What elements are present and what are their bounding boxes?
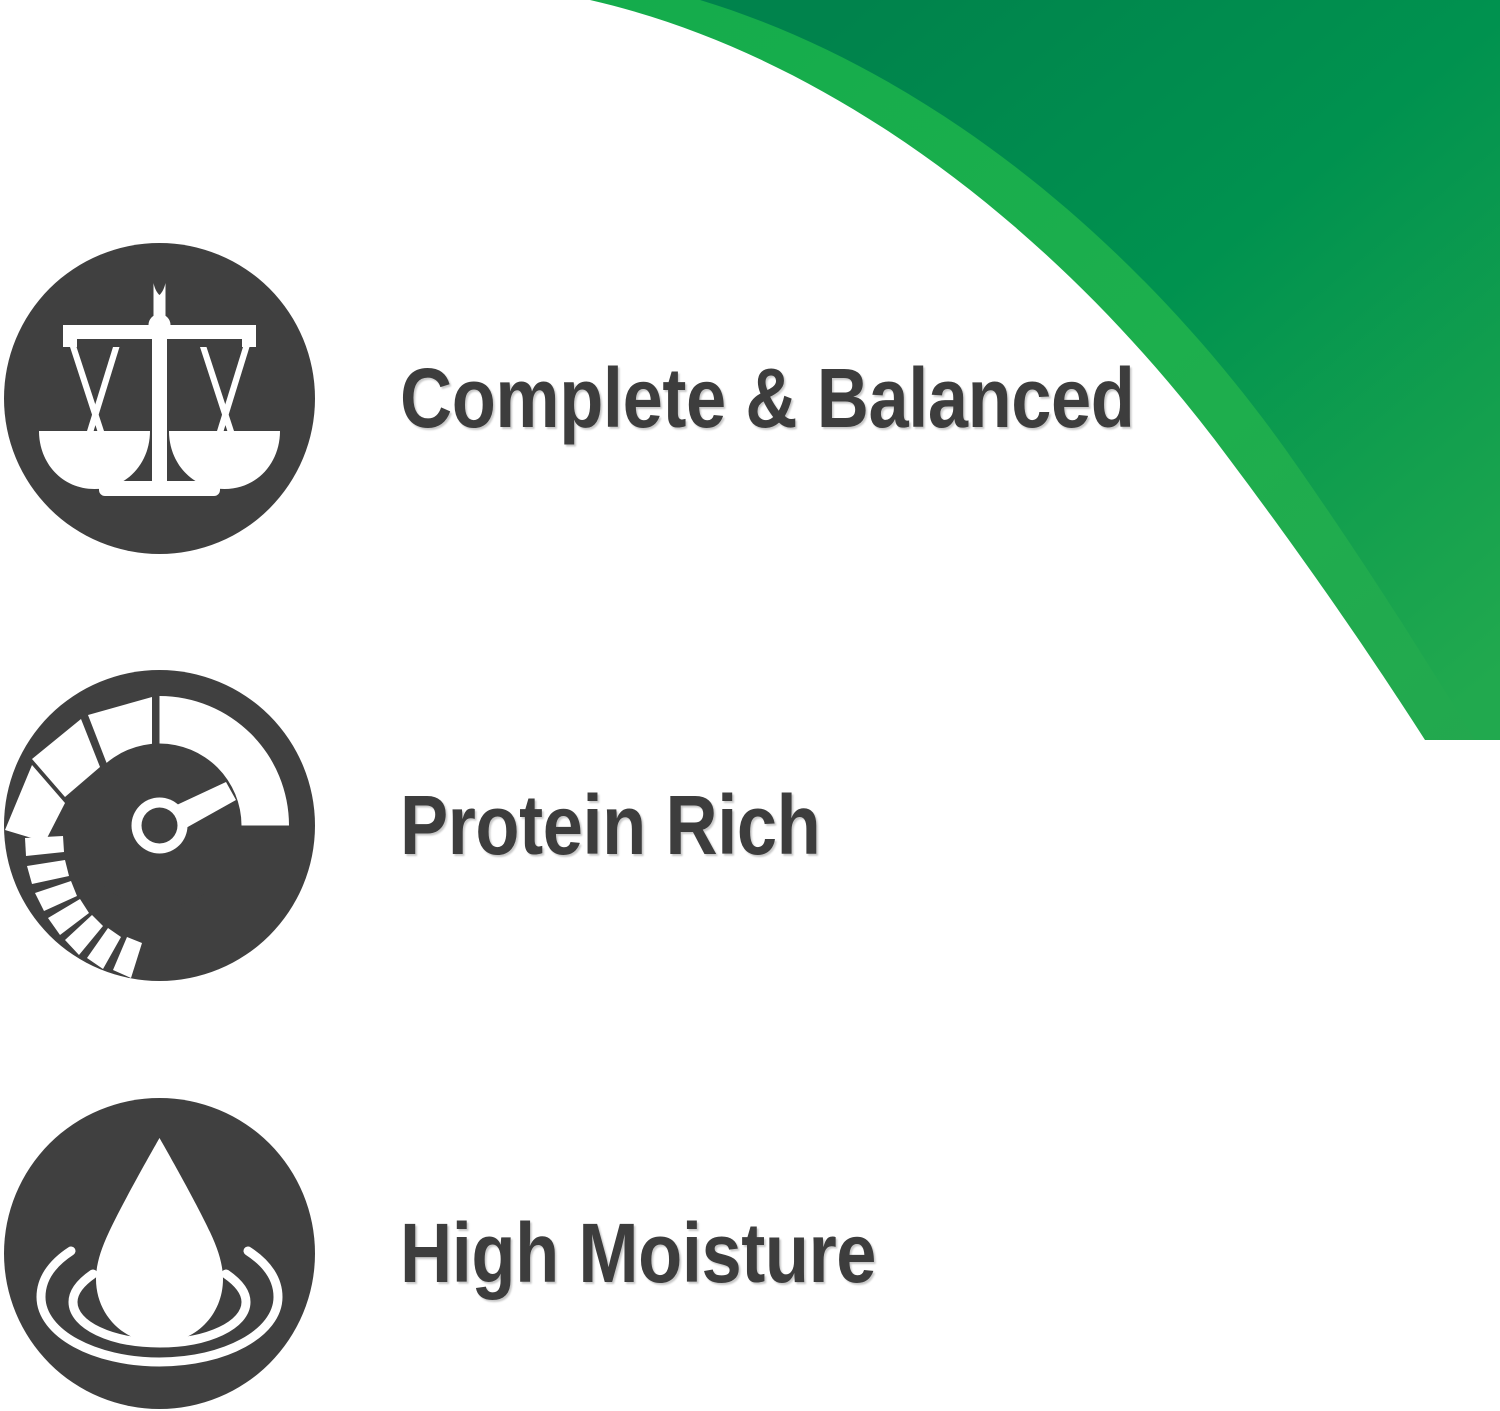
water-droplet-ripple-icon [3,1098,316,1409]
feature-highlight-panel: Complete & Balanced [0,0,1500,1411]
feature-row: Protein Rich [0,670,1500,981]
feature-label: Complete & Balanced [400,354,1346,442]
feature-row: Complete & Balanced [0,243,1500,554]
balance-scale-badge [3,243,316,554]
balance-scale-icon [3,243,316,554]
water-droplet-badge [3,1098,316,1409]
feature-label: High Moisture [400,1209,1346,1297]
gauge-hub-center [142,808,178,844]
speedometer-gauge-icon [3,670,316,981]
feature-label: Protein Rich [400,781,1346,869]
feature-row: High Moisture [0,1098,1500,1409]
speedometer-gauge-badge [3,670,316,981]
